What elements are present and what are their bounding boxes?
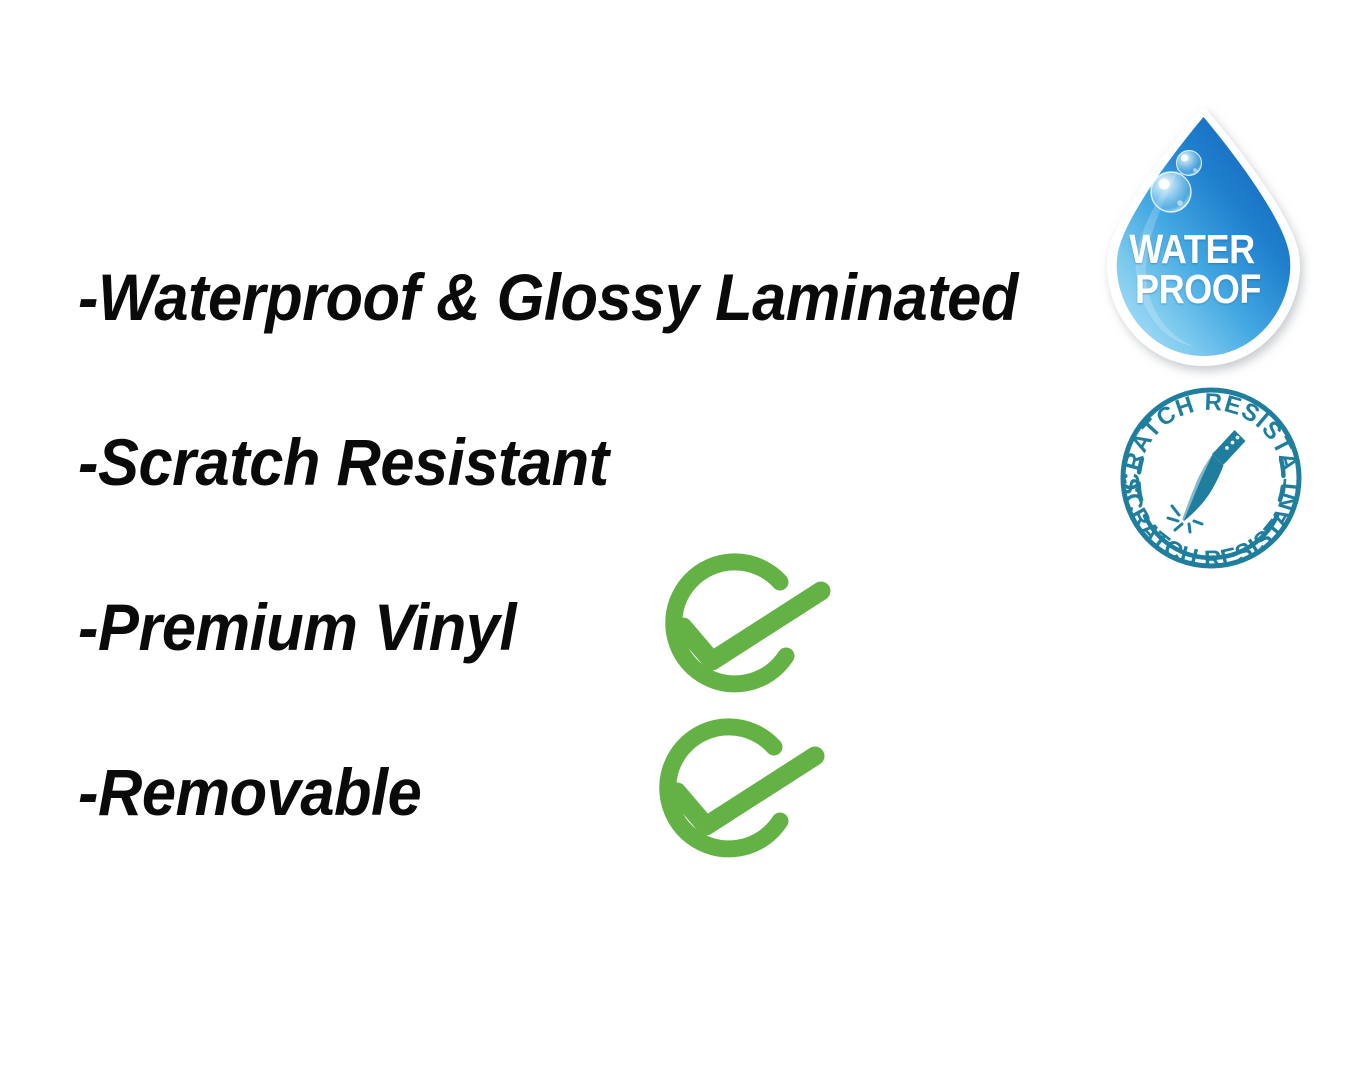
feature-item-scratch-resistant: -Scratch Resistant: [78, 429, 609, 495]
check-tick: [677, 756, 815, 826]
scratch-resistant-badge: SCRATCH RESISTANT SCRATCH RESISTANT: [1112, 382, 1310, 572]
check-tick: [683, 591, 821, 661]
water-bubble-small: [1177, 151, 1202, 176]
feature-graphic-canvas: -Waterproof & Glossy Laminated -Scratch …: [0, 0, 1359, 1080]
knife-icon: [1168, 430, 1246, 532]
feature-item-premium-vinyl: -Premium Vinyl: [78, 594, 516, 660]
feature-list: -Waterproof & Glossy Laminated -Scratch …: [0, 0, 1100, 1080]
green-check-icon-removable: [630, 713, 840, 888]
water-bubble-large: [1151, 172, 1191, 212]
feature-item-waterproof: -Waterproof & Glossy Laminated: [78, 264, 1018, 330]
green-check-icon-premium-vinyl: [636, 548, 846, 723]
waterproof-badge: WATER PROOF: [1096, 104, 1311, 382]
feature-item-removable: -Removable: [78, 759, 421, 825]
